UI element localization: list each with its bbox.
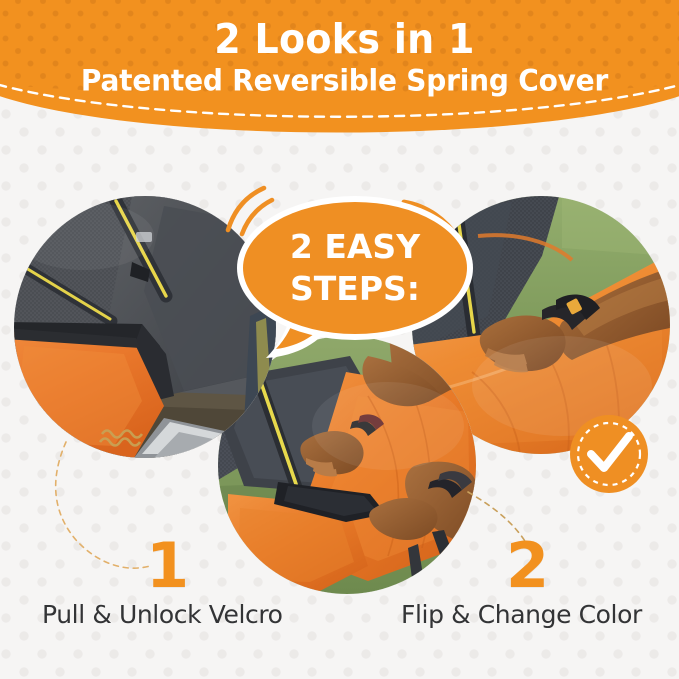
page-subtitle: Patented Reversible Spring Cover (81, 63, 608, 99)
step-number-1: 1 (146, 535, 189, 597)
speech-bubble: 2 EASY STEPS: (222, 176, 484, 366)
speech-bubble-shape: 2 EASY STEPS: (222, 176, 484, 366)
page-title: 2 Looks in 1 (214, 16, 475, 61)
promo-graphic: 2 Looks in 1 Patented Reversible Spring … (0, 0, 679, 679)
header-banner: 2 Looks in 1 Patented Reversible Spring … (0, 0, 679, 148)
step-number-2: 2 (506, 535, 549, 597)
step-label-1: Pull & Unlock Velcro (42, 600, 283, 630)
step-label-2: Flip & Change Color (401, 600, 642, 630)
bubble-line-1: 2 EASY (290, 227, 421, 266)
check-badge (563, 408, 655, 500)
bubble-line-2: STEPS: (290, 269, 420, 308)
